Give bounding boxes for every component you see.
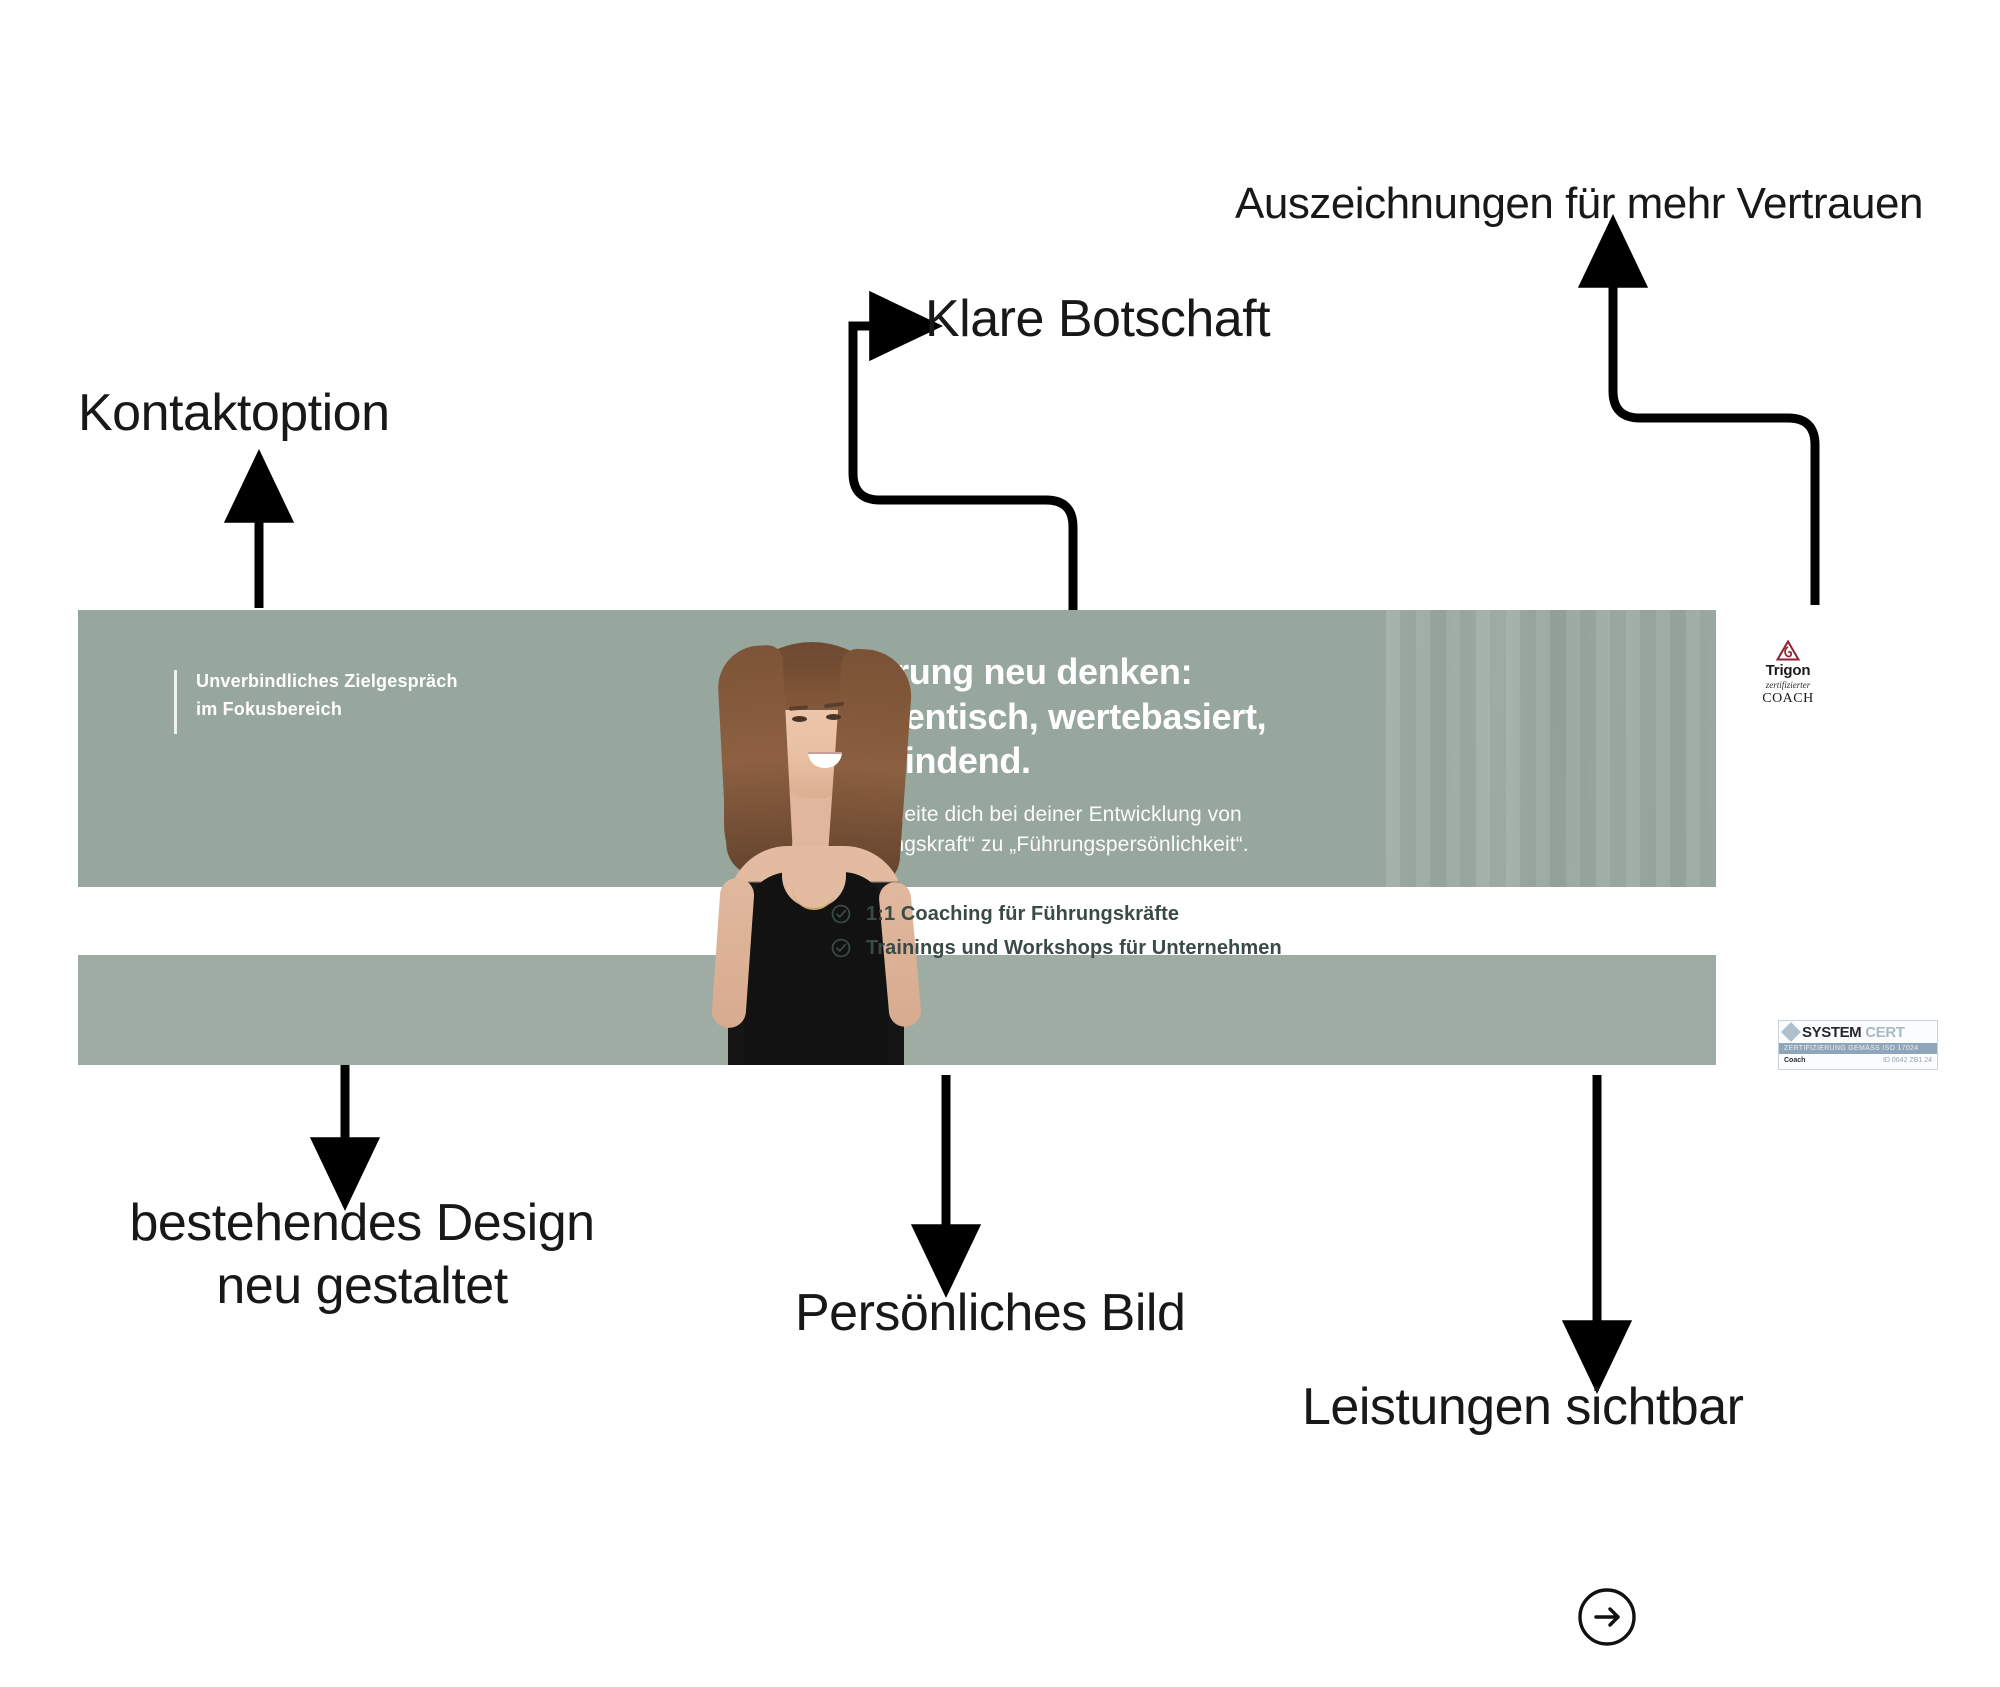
eye-right <box>826 714 841 720</box>
slide-canvas: Kontaktoption Klare Botschaft Auszeichnu… <box>0 0 2000 1687</box>
check-circle-icon <box>830 903 852 925</box>
systemcert-code: ID 0042 ZB1 24 <box>1883 1057 1932 1064</box>
systemcert-certification-badge[interactable]: SYSTEM CERT ZERTIFIZIERUNG GEMÄSS ISO 17… <box>1778 1020 1938 1070</box>
trigon-name: Trigon <box>1766 662 1811 679</box>
trigon-triangle-logo-icon <box>1776 640 1800 661</box>
hair-left <box>716 644 794 877</box>
check-circle-icon <box>830 937 852 959</box>
annotation-label-persoenliches-bild: Persönliches Bild <box>795 1282 1185 1345</box>
trigon-certification-badge[interactable]: Trigon zertifizierter COACH <box>1744 625 1832 721</box>
contact-line-2: im Fokusbereich <box>196 696 458 724</box>
checklist-item: Trainings und Workshops für Unternehmen <box>830 931 1282 965</box>
systemcert-role: Coach <box>1784 1057 1805 1064</box>
systemcert-wordmark: SYSTEM CERT <box>1779 1021 1937 1043</box>
diamond-icon <box>1781 1022 1801 1042</box>
systemcert-iso-band: ZERTIFIZIERUNG GEMÄSS ISO 17024 <box>1779 1043 1937 1054</box>
contact-option-block[interactable]: Unverbindliches Zielgespräch im Fokusber… <box>174 668 458 724</box>
annotation-label-leistungen-sichtbar: Leistungen sichtbar <box>1302 1376 1743 1439</box>
annotation-label-kontaktoption: Kontaktoption <box>78 382 390 445</box>
annotation-label-auszeichnungen: Auszeichnungen für mehr Vertrauen <box>1235 177 1923 231</box>
service-checklist: 1:1 Coaching für Führungskräfte Training… <box>830 897 1282 965</box>
checklist-item: 1:1 Coaching für Führungskräfte <box>830 897 1282 931</box>
eye-left <box>792 716 807 722</box>
website-banner[interactable]: Unverbindliches Zielgespräch im Fokusber… <box>78 610 1716 1065</box>
annotation-label-bestehendes-design: bestehendes Design neu gestaltet <box>72 1192 652 1319</box>
trigon-subtitle: zertifizierter <box>1766 680 1811 690</box>
annotation-label-klare-botschaft: Klare Botschaft <box>925 288 1270 351</box>
systemcert-word-cert: CERT <box>1865 1024 1904 1041</box>
systemcert-footer-row: Coach ID 0042 ZB1 24 <box>1779 1054 1937 1067</box>
arrow-auszeichnungen <box>1613 250 1815 605</box>
checklist-label: 1:1 Coaching für Führungskräfte <box>866 903 1179 926</box>
arrow-right-circle-icon[interactable] <box>1576 1586 1638 1648</box>
trigon-coach-word: COACH <box>1762 691 1814 707</box>
checklist-label: Trainings und Workshops für Unternehmen <box>866 937 1282 960</box>
systemcert-word-system: SYSTEM <box>1802 1024 1861 1041</box>
contact-line-1: Unverbindliches Zielgespräch <box>196 668 458 696</box>
portrait-photo <box>688 610 938 1065</box>
